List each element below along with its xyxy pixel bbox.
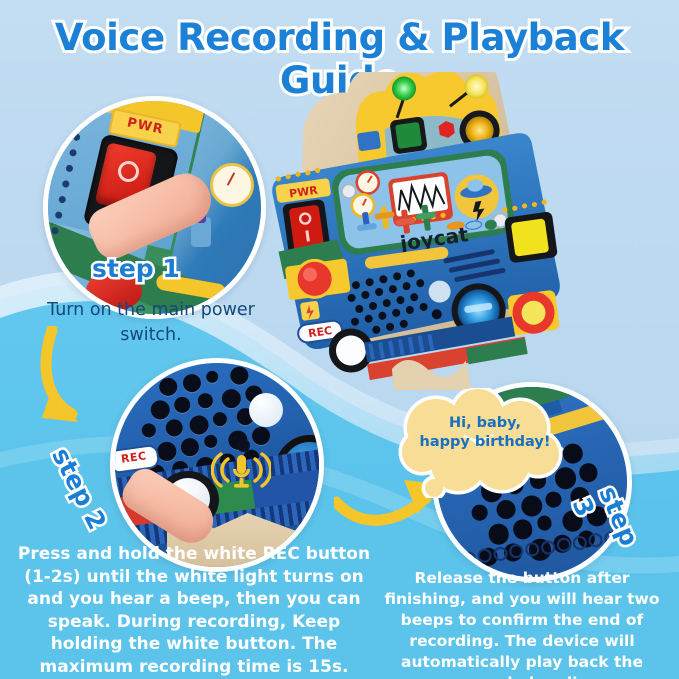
speech-bubble-line-2: happy birthday! xyxy=(410,433,560,452)
guide-poster: Voice Recording & Playback Guide PWR ste… xyxy=(0,0,679,679)
speech-bubble-text: Hi, baby, happy birthday! xyxy=(410,414,560,452)
gauge-dial-icon xyxy=(210,163,254,207)
step2-photo: REC xyxy=(110,358,324,572)
speech-bubble: Hi, baby, happy birthday! xyxy=(392,388,574,498)
screw-icon xyxy=(341,183,357,199)
step2-caption: Press and hold the white REC button (1-2… xyxy=(16,543,372,678)
speech-bubble-line-1: Hi, baby, xyxy=(410,414,560,433)
microphone-icon xyxy=(211,447,271,497)
white-light-indicator xyxy=(249,393,283,427)
yellow-rocker-switch xyxy=(511,218,549,256)
step1-label: step 1 xyxy=(92,254,180,283)
toy-device: joycat PWR REC xyxy=(253,72,583,390)
step1-photo: PWR xyxy=(43,96,266,319)
step3-caption: Release the button after finishing, and … xyxy=(372,568,672,679)
